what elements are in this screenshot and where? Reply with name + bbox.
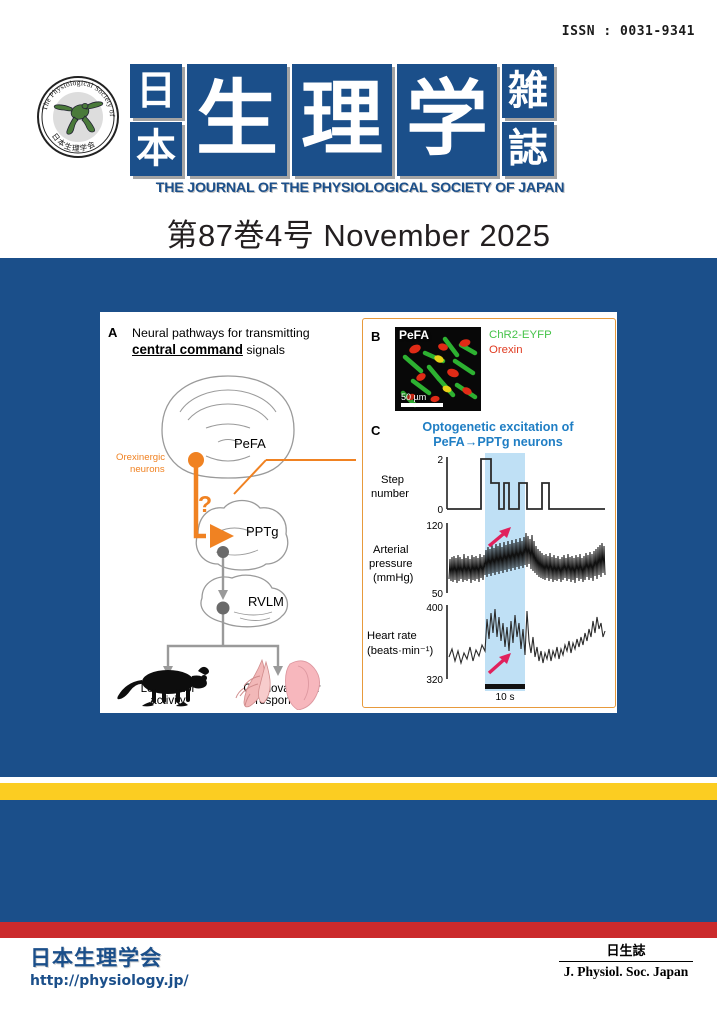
footer-society-name-jp: 日本生理学会 xyxy=(30,942,189,972)
masthead: ISSN : 0031-9341 The Physiological Socie… xyxy=(0,0,717,258)
title-char-zatsu: 雑 xyxy=(502,64,554,118)
panel-bc-box: B xyxy=(362,318,616,708)
legend-chr2-eyfp: ChR2-EYFP xyxy=(489,329,552,341)
cover-red-band xyxy=(0,922,717,938)
orexin-label-line1: Orexinergic xyxy=(116,452,165,463)
heart-and-lung-icon xyxy=(228,658,336,710)
fluorescence-micrograph: PeFA 50 µm xyxy=(395,327,481,411)
trace-step-ymax: 2 xyxy=(437,455,443,466)
trace-label-ap-l3: (mmHg) xyxy=(373,572,414,584)
trace-hr-ymax: 400 xyxy=(426,603,443,614)
panel-c-traces: Step number 2 0 Arterial pressure (mmHg)… xyxy=(367,451,611,701)
trace-label-ap-l2: pressure xyxy=(369,558,413,570)
trace-step-line xyxy=(447,459,605,509)
trace-ap-line xyxy=(449,533,605,583)
node-dot-rvlm xyxy=(217,602,230,615)
panel-a-title: Neural pathways for transmitting central… xyxy=(132,326,344,358)
legend-orexin: Orexin xyxy=(489,344,523,356)
node-label-rvlm: RVLM xyxy=(248,594,284,609)
title-char-sei: 生 xyxy=(187,64,287,176)
panel-a-diagram: PeFA PPTg RVLM xyxy=(106,356,356,706)
title-char-gaku: 学 xyxy=(397,64,497,176)
cover-figure: A Neural pathways for transmitting centr… xyxy=(100,312,617,713)
panel-a-title-tail: signals xyxy=(243,343,285,357)
title-char-hon: 本 xyxy=(130,122,182,176)
title-char-ri: 理 xyxy=(292,64,392,176)
node-dot-pptg xyxy=(217,546,229,558)
scale-bar xyxy=(401,403,443,407)
cover-blue-band-bottom xyxy=(0,800,717,922)
panel-a-title-line1: Neural pathways for transmitting xyxy=(132,326,310,340)
panel-a-title-emphasis: central command xyxy=(132,342,243,357)
panel-c-title-line2: PeFA→PPTg neurons xyxy=(433,435,562,449)
cover-yellow-band xyxy=(0,783,717,800)
footer-society-block[interactable]: 日本生理学会 http://physiology.jp/ xyxy=(30,942,189,989)
trace-ap-ymin: 50 xyxy=(432,589,444,600)
micrograph-region-label: PeFA xyxy=(399,328,429,342)
question-mark-label: ? xyxy=(198,491,212,517)
node-label-pefa: PeFA xyxy=(234,436,266,451)
brain-section-pefa xyxy=(162,376,294,478)
title-char-shi: 誌 xyxy=(502,122,554,176)
trace-hr-line xyxy=(449,609,605,663)
time-scale-label: 10 s xyxy=(496,692,515,701)
node-label-pptg: PPTg xyxy=(246,524,279,539)
trace-label-step-l2: number xyxy=(371,488,409,500)
panel-b-letter: B xyxy=(371,329,380,344)
panel-c-letter: C xyxy=(371,423,380,438)
title-char-ni: 日 xyxy=(130,64,182,118)
title-char-stack-zasshi: 雑 誌 xyxy=(502,64,554,176)
volume-issue-date: 第87巻4号 November 2025 xyxy=(0,210,717,255)
society-seal-running-frog-icon: The Physiological Society of Japan 日本生理学… xyxy=(28,66,128,168)
mouse-silhouette-icon xyxy=(112,656,220,708)
trace-label-hr-l2: (beats·min⁻¹) xyxy=(367,645,433,657)
trace-ap-ymax: 120 xyxy=(426,521,443,532)
time-scale-bar xyxy=(485,684,525,689)
trace-step-ymin: 0 xyxy=(437,505,443,516)
footer-abbr-jp: 日生誌 xyxy=(559,940,693,959)
trace-hr-ymin: 320 xyxy=(426,675,443,686)
trace-label-hr-l1: Heart rate xyxy=(367,630,417,642)
title-char-stack-nihon: 日 本 xyxy=(130,64,182,176)
journal-title-japanese: 日 本 生 理 学 雑 誌 xyxy=(130,64,590,176)
footer-journal-abbreviation: 日生誌 J. Physiol. Soc. Japan xyxy=(559,940,693,980)
node-dot-orexin xyxy=(188,452,204,468)
trace-label-step-l1: Step xyxy=(381,474,404,486)
footer-society-url[interactable]: http://physiology.jp/ xyxy=(30,973,189,989)
footer-abbr-divider xyxy=(559,961,693,962)
issn-text: ISSN : 0031-9341 xyxy=(562,24,695,39)
journal-title-english: THE JOURNAL OF THE PHYSIOLOGICAL SOCIETY… xyxy=(132,180,588,196)
trace-label-ap-l1: Arterial xyxy=(373,544,408,556)
panel-a: A Neural pathways for transmitting centr… xyxy=(100,312,358,713)
footer-abbr-en: J. Physiol. Soc. Japan xyxy=(559,964,693,980)
orexin-label-line2: neurons xyxy=(130,464,165,475)
panel-a-letter: A xyxy=(108,325,117,340)
panel-c-title: Optogenetic excitation of PeFA→PPTg neur… xyxy=(389,420,607,450)
panel-c-title-line1: Optogenetic excitation of xyxy=(422,420,573,434)
scale-bar-label: 50 µm xyxy=(401,392,426,402)
